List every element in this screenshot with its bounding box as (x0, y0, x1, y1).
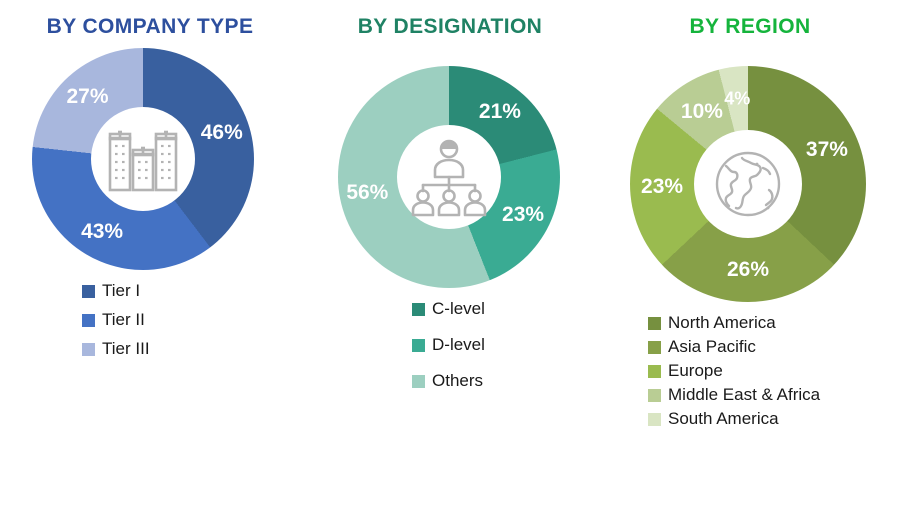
slice-percentage-label: 56% (346, 181, 388, 205)
slice-percentage-label: 23% (502, 203, 544, 227)
buildings-icon (100, 116, 186, 202)
legend-by-region: North America Asia Pacific Europe Middle… (600, 312, 900, 432)
page-title-by-company-type: BY COMPANY TYPE (0, 0, 300, 40)
slice-percentage-label: 21% (479, 100, 521, 124)
slice-percentage-label: 23% (641, 175, 683, 199)
legend-label-d-level: D-level (432, 334, 485, 357)
legend-item[interactable]: C-level (412, 298, 485, 321)
legend-label-tier-ii: Tier II (102, 309, 145, 332)
legend-swatch-tier-ii (82, 314, 95, 327)
legend-item[interactable]: Tier III (82, 338, 150, 361)
donut-chart-by-company-type: 46%43%27% (32, 48, 254, 270)
legend-item[interactable]: D-level (412, 334, 485, 357)
legend-swatch-asia-pacific (648, 341, 661, 354)
donut-center-hole (397, 125, 501, 229)
legend-item[interactable]: Tier II (82, 309, 150, 332)
legend-label-middle-east-africa: Middle East & Africa (668, 384, 820, 407)
legend-item[interactable]: Asia Pacific (648, 336, 820, 359)
legend-label-south-america: South America (668, 408, 779, 431)
legend-swatch-tier-i (82, 285, 95, 298)
chart-panel-by-region: BY REGION 37%26%23%10%4% North America A… (600, 0, 900, 507)
legend-item[interactable]: Middle East & Africa (648, 384, 820, 407)
legend-by-company-type: Tier I Tier II Tier III (0, 280, 300, 367)
legend-item[interactable]: Tier I (82, 280, 150, 303)
legend-label-north-america: North America (668, 312, 776, 335)
page-title-by-designation: BY DESIGNATION (300, 0, 600, 40)
legend-label-c-level: C-level (432, 298, 485, 321)
slice-percentage-label: 10% (681, 100, 723, 124)
legend-swatch-europe (648, 365, 661, 378)
donut-chart-by-designation: 21%23%56% (338, 66, 560, 288)
donut-ring: 37%26%23%10%4% (630, 66, 866, 302)
chart-panel-by-company-type: BY COMPANY TYPE (0, 0, 300, 507)
donut-ring: 46%43%27% (32, 48, 254, 270)
legend-swatch-others (412, 375, 425, 388)
slice-percentage-label: 26% (727, 258, 769, 282)
legend-label-tier-iii: Tier III (102, 338, 150, 361)
globe-icon (706, 142, 790, 226)
slice-percentage-label: 27% (66, 85, 108, 109)
legend-swatch-d-level (412, 339, 425, 352)
donut-center-hole (91, 107, 195, 211)
chart-panel-by-designation: BY DESIGNATION 21%23%56% C-level (300, 0, 600, 507)
legend-item[interactable]: South America (648, 408, 820, 431)
slice-percentage-label: 43% (81, 220, 123, 244)
donut-center-hole (694, 130, 802, 238)
donut-ring: 21%23%56% (338, 66, 560, 288)
slice-percentage-label: 4% (724, 88, 750, 109)
legend-item[interactable]: Others (412, 370, 485, 393)
legend-label-asia-pacific: Asia Pacific (668, 336, 756, 359)
legend-by-designation: C-level D-level Others (300, 298, 600, 406)
legend-swatch-c-level (412, 303, 425, 316)
legend-item[interactable]: Europe (648, 360, 820, 383)
org-hierarchy-icon (405, 137, 493, 217)
primaries-breakdown-board: BY COMPANY TYPE (0, 0, 900, 507)
legend-item[interactable]: North America (648, 312, 820, 335)
legend-swatch-south-america (648, 413, 661, 426)
legend-swatch-tier-iii (82, 343, 95, 356)
slice-percentage-label: 37% (806, 138, 848, 162)
page-title-by-region: BY REGION (600, 0, 900, 40)
donut-chart-by-region: 37%26%23%10%4% (630, 66, 866, 302)
legend-label-europe: Europe (668, 360, 723, 383)
legend-swatch-middle-east-africa (648, 389, 661, 402)
legend-label-tier-i: Tier I (102, 280, 140, 303)
legend-label-others: Others (432, 370, 483, 393)
legend-swatch-north-america (648, 317, 661, 330)
slice-percentage-label: 46% (201, 121, 243, 145)
